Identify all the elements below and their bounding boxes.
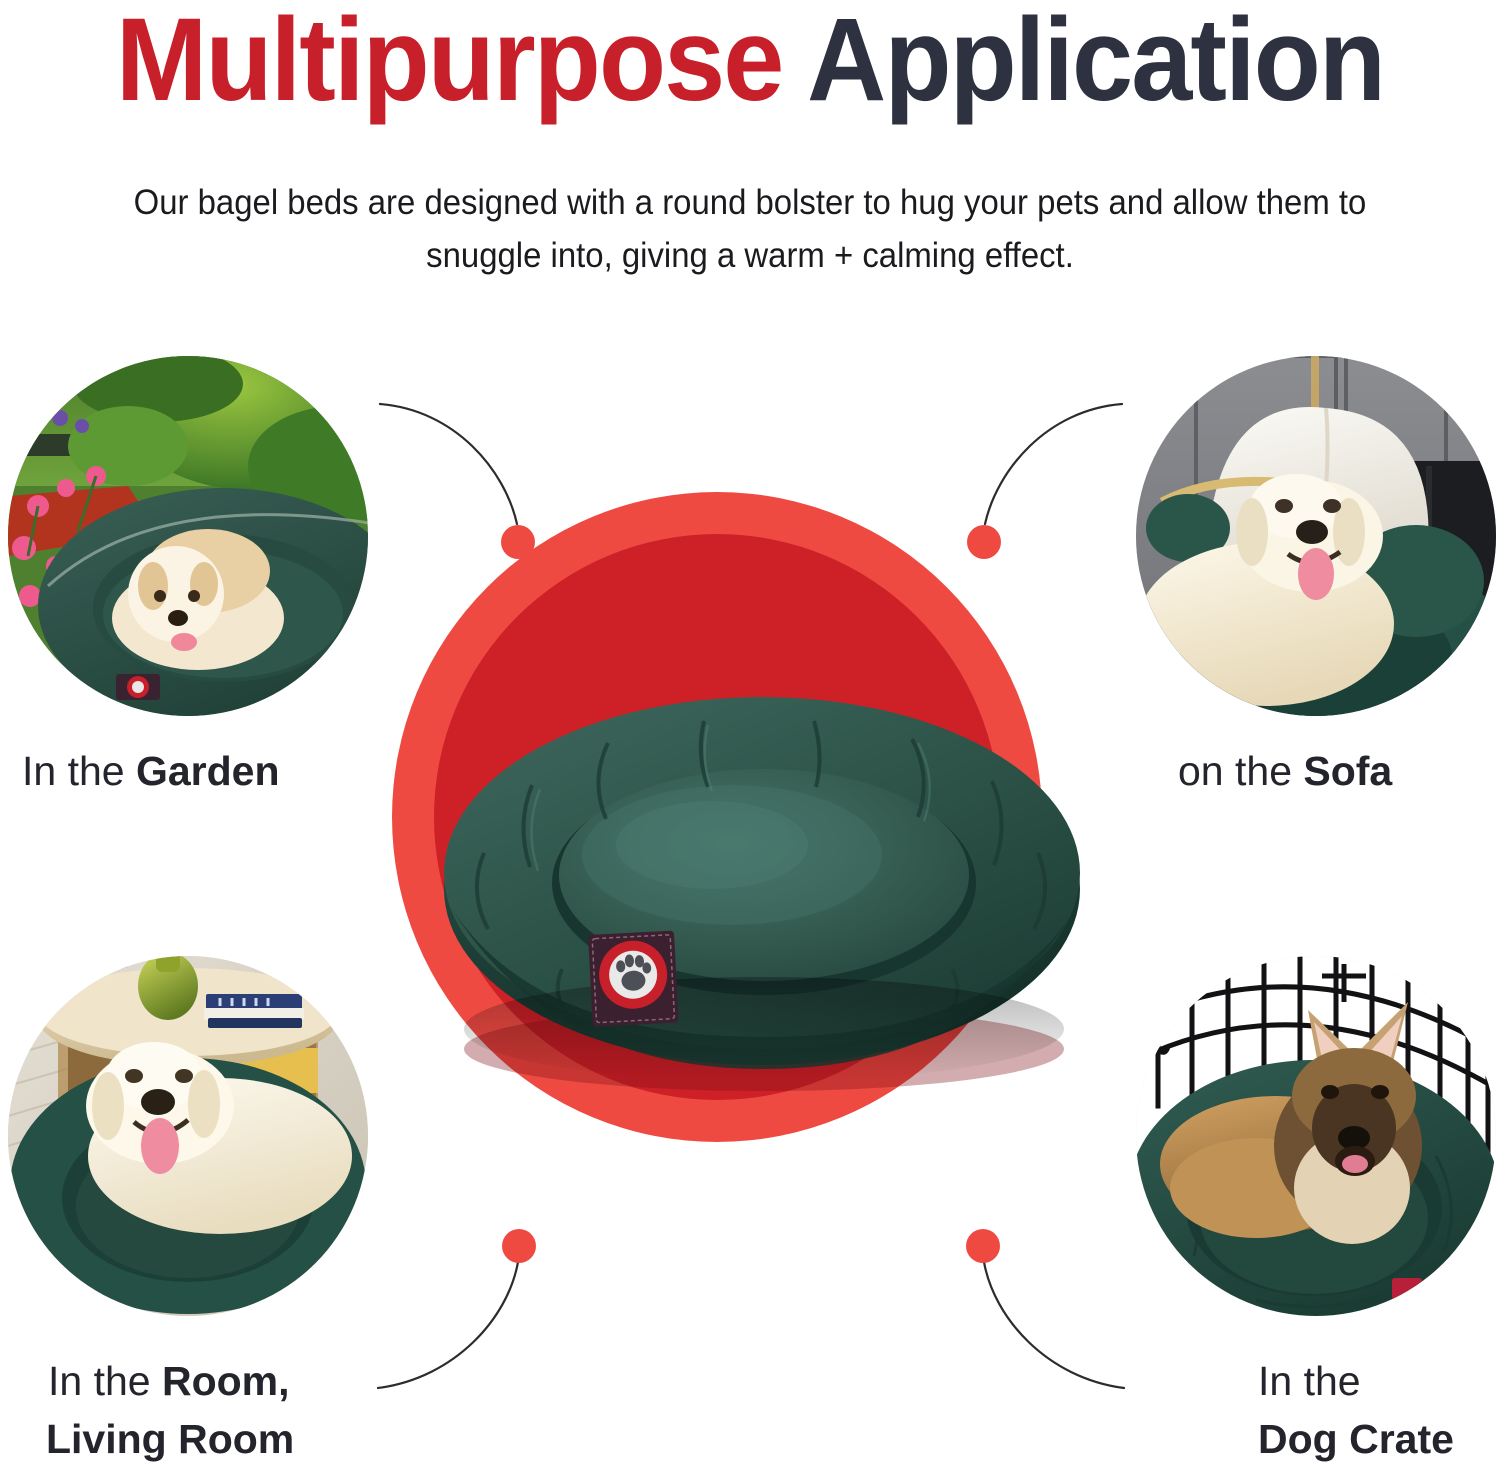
page-title: Multipurpose Application	[53, 0, 1448, 126]
scene-photo-garden	[8, 356, 368, 716]
dog-crate-photo-illustration	[1136, 956, 1496, 1316]
caption-living-room-line2: Living Room	[46, 1410, 294, 1468]
caption-living-room-bold-1: Room,	[162, 1358, 290, 1404]
caption-sofa-regular: on the	[1178, 748, 1303, 794]
hero-inner-circle	[434, 534, 1000, 1100]
caption-garden-bold: Garden	[136, 748, 280, 794]
caption-dog-crate-line2: Dog Crate	[1258, 1410, 1454, 1468]
caption-dog-crate-bold: Dog Crate	[1258, 1416, 1454, 1462]
caption-dog-crate-regular: In the	[1258, 1358, 1361, 1404]
caption-living-room-regular: In the	[48, 1358, 162, 1404]
caption-dog-crate-line1: In the	[1258, 1352, 1454, 1410]
infographic-page: Multipurpose Application Our bagel beds …	[0, 0, 1500, 1471]
sofa-photo-illustration	[1136, 356, 1496, 716]
caption-living-room-bold-2: Living Room	[46, 1416, 294, 1462]
living-room-photo-illustration	[8, 956, 368, 1316]
caption-sofa: on the Sofa	[1178, 742, 1392, 800]
page-title-red-word: Multipurpose	[116, 0, 783, 126]
caption-sofa-bold: Sofa	[1303, 748, 1392, 794]
caption-garden: In the Garden	[22, 742, 280, 800]
caption-living-room-line1: In the Room,	[48, 1352, 294, 1410]
product-hero	[392, 492, 1042, 1142]
caption-garden-regular: In the	[22, 748, 136, 794]
page-title-dark-word: Application	[782, 0, 1384, 126]
page-subtitle: Our bagel beds are designed with a round…	[83, 176, 1418, 282]
connector-dot-living-room	[502, 1229, 536, 1263]
garden-photo-illustration	[8, 356, 368, 716]
scene-photo-living-room	[8, 956, 368, 1316]
caption-living-room: In the Room, Living Room	[48, 1352, 294, 1468]
scene-photo-sofa	[1136, 356, 1496, 716]
connector-dot-dog-crate	[966, 1229, 1000, 1263]
connector-line-living-room	[378, 1262, 518, 1388]
connector-line-dog-crate	[984, 1262, 1124, 1388]
caption-dog-crate: In the Dog Crate	[1258, 1352, 1454, 1468]
scene-photo-dog-crate	[1136, 956, 1496, 1316]
